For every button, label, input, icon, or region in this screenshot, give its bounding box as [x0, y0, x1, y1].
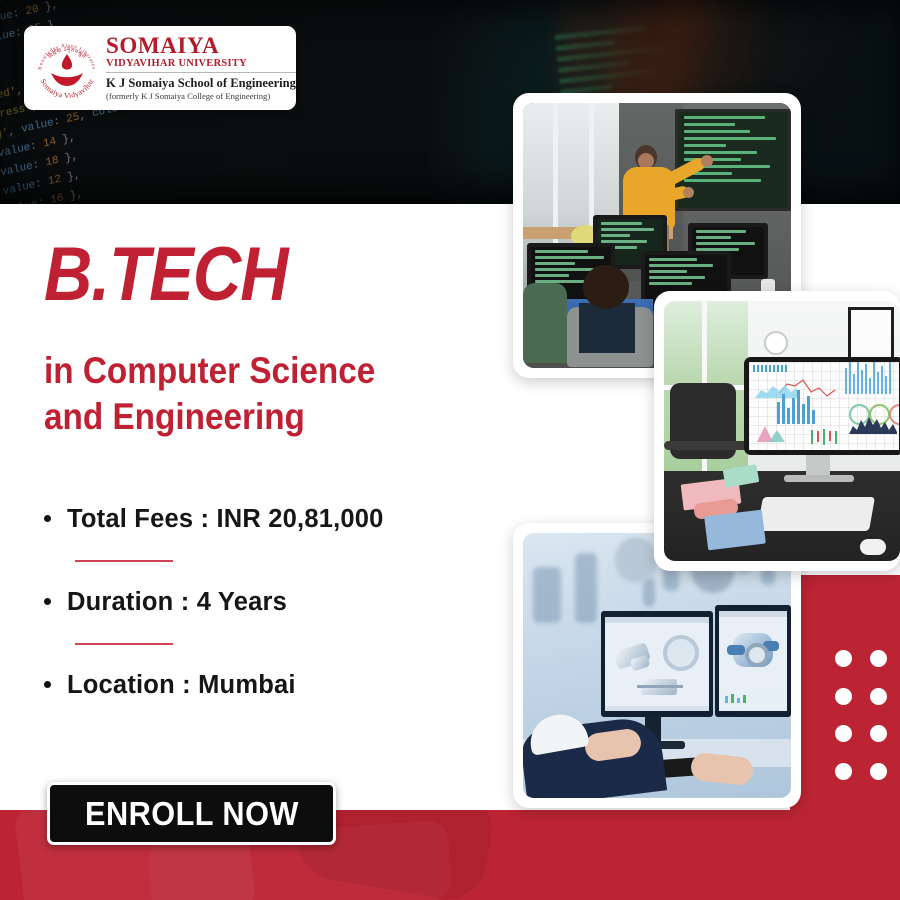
brand-name: SOMAIYA: [106, 34, 296, 57]
instructor-hand-raised: [701, 155, 713, 167]
dot: [835, 763, 852, 780]
brand-logo-card: Knowledge Alone Liberates विद्यया ऽमृतमश…: [24, 26, 296, 110]
student-hair: [583, 265, 629, 309]
dot: [870, 650, 887, 667]
mouse: [860, 539, 886, 555]
wall-clock-icon: [764, 331, 788, 355]
monitor-stand: [806, 455, 830, 477]
page-subtitle-line2: and Engineering: [44, 394, 375, 440]
detail-location: Location : Mumbai: [67, 671, 296, 700]
list-item: Location : Mumbai: [44, 671, 474, 700]
dot-grid-decoration: [826, 640, 896, 790]
brand-university: VIDYAVIHAR UNIVERSITY: [106, 57, 296, 70]
dot: [835, 650, 852, 667]
program-details-list: Total Fees : INR 20,81,000 Duration : 4 …: [44, 505, 474, 700]
detail-separator-line: [75, 560, 173, 562]
photo-card-dashboard-desk: [654, 291, 900, 571]
photo-dashboard-desk: [664, 301, 900, 561]
cad-screen-left: [605, 617, 709, 711]
poster: 8{ name: 'Jan', value: 14 },9{ name: 'Fe…: [0, 0, 900, 900]
bullet-dot-icon: [44, 598, 51, 605]
dot: [835, 725, 852, 742]
photo-cad-engineering: [523, 533, 791, 798]
bullet-dot-icon: [44, 681, 51, 688]
dot: [835, 688, 852, 705]
dot: [870, 725, 887, 742]
desk-notebook: [704, 510, 766, 551]
dot: [870, 688, 887, 705]
detail-total-fees: Total Fees : INR 20,81,000: [67, 505, 384, 534]
dot: [870, 763, 887, 780]
bullet-dot-icon: [44, 515, 51, 522]
detail-duration: Duration : 4 Years: [67, 588, 287, 617]
chair-armrest: [664, 441, 748, 450]
monitor-foot: [784, 475, 854, 482]
student-body: [579, 303, 635, 353]
page-subtitle-line1: in Computer Science: [44, 348, 375, 394]
page-title: B.TECH: [44, 239, 288, 311]
keyboard: [757, 497, 875, 531]
brand-former-name: (formerly K J Somaiya College of Enginee…: [106, 91, 296, 102]
list-item: Total Fees : INR 20,81,000: [44, 505, 474, 534]
cad-screen-right: [719, 611, 787, 711]
analytics-dashboard-screen: [749, 362, 899, 450]
brand-logo-text: SOMAIYA VIDYAVIHAR UNIVERSITY K J Somaiy…: [106, 34, 304, 103]
list-item: Duration : 4 Years: [44, 588, 474, 617]
enroll-now-label: ENROLL NOW: [85, 795, 299, 833]
somaiya-emblem-icon: Knowledge Alone Liberates विद्यया ऽमृतमश…: [32, 33, 102, 103]
brand-school: K J Somaiya School of Engineering: [106, 76, 296, 91]
detail-separator-line: [75, 643, 173, 645]
logo-divider: [106, 72, 296, 73]
student-left: [523, 283, 567, 363]
enroll-now-button[interactable]: ENROLL NOW: [47, 782, 336, 845]
instructor-hand-lower: [683, 187, 694, 198]
engineer-background-head: [615, 537, 657, 583]
page-subtitle: in Computer Science and Engineering: [44, 348, 375, 440]
picture-frame: [848, 307, 894, 363]
